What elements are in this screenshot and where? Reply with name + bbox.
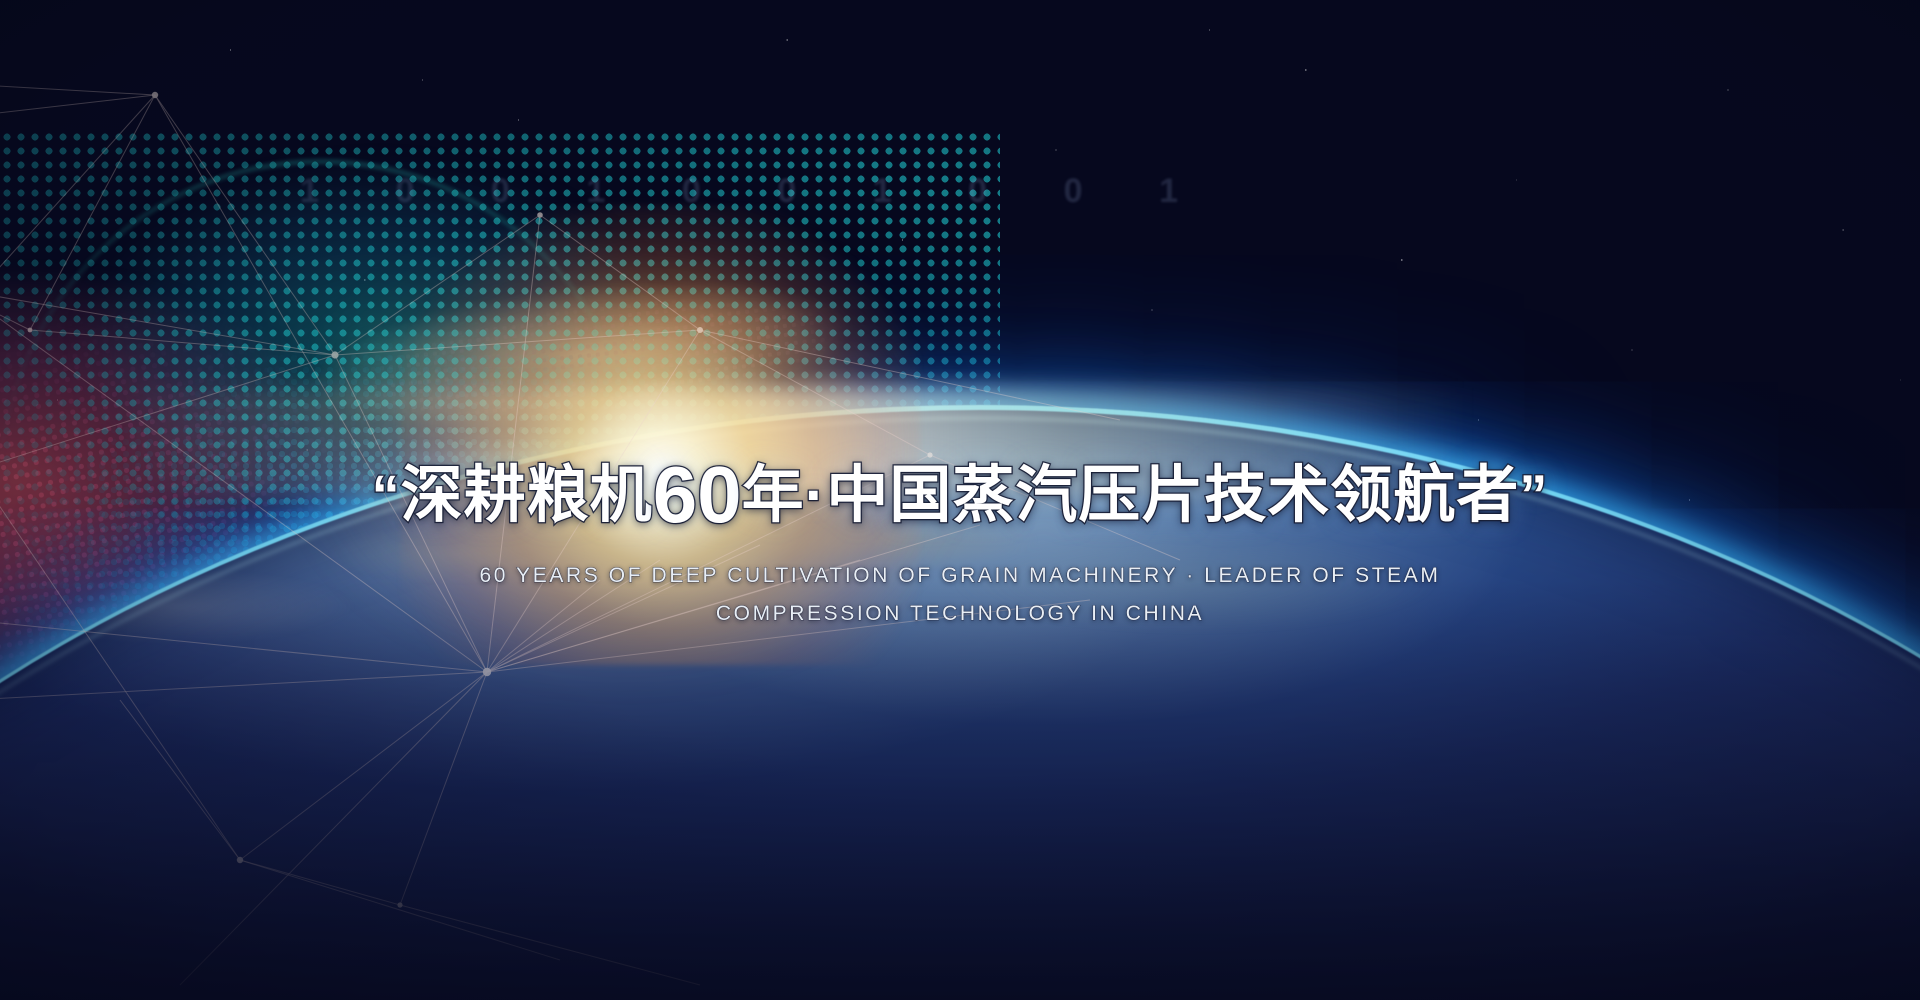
- hero-banner: 1001001001: [0, 0, 1920, 1000]
- headline-part-one: 深耕粮机: [401, 461, 653, 530]
- banner-text-block: “深耕粮机60年·中国蒸汽压片技术领航者” 60 YEARS OF DEEP C…: [0, 455, 1920, 630]
- banner-subtitle-line-1: 60 YEARS OF DEEP CULTIVATION OF GRAIN MA…: [0, 561, 1920, 591]
- ghost-glyph-0: 1: [300, 172, 321, 211]
- headline-open-quote: “: [372, 463, 401, 526]
- ghost-glyph-9: 1: [1159, 172, 1180, 211]
- ghost-glyph-2: 0: [491, 172, 512, 211]
- headline-part-two: 年·中国蒸汽压片技术领航者: [742, 461, 1520, 530]
- banner-subtitle-line-2: COMPRESSION TECHNOLOGY IN CHINA: [0, 599, 1920, 629]
- ghost-binary-glyph-row: 1001001001: [300, 172, 1180, 211]
- ghost-glyph-7: 0: [968, 172, 989, 211]
- headline-close-quote: ”: [1519, 463, 1548, 526]
- ghost-glyph-8: 0: [1064, 172, 1085, 211]
- banner-headline: “深耕粮机60年·中国蒸汽压片技术领航者”: [372, 455, 1549, 535]
- ghost-glyph-4: 0: [682, 172, 703, 211]
- ghost-glyph-1: 0: [395, 172, 416, 211]
- ghost-glyph-5: 0: [777, 172, 798, 211]
- ghost-glyph-6: 1: [873, 172, 894, 211]
- headline-number-60: 60: [653, 450, 742, 539]
- ghost-glyph-3: 1: [586, 172, 607, 211]
